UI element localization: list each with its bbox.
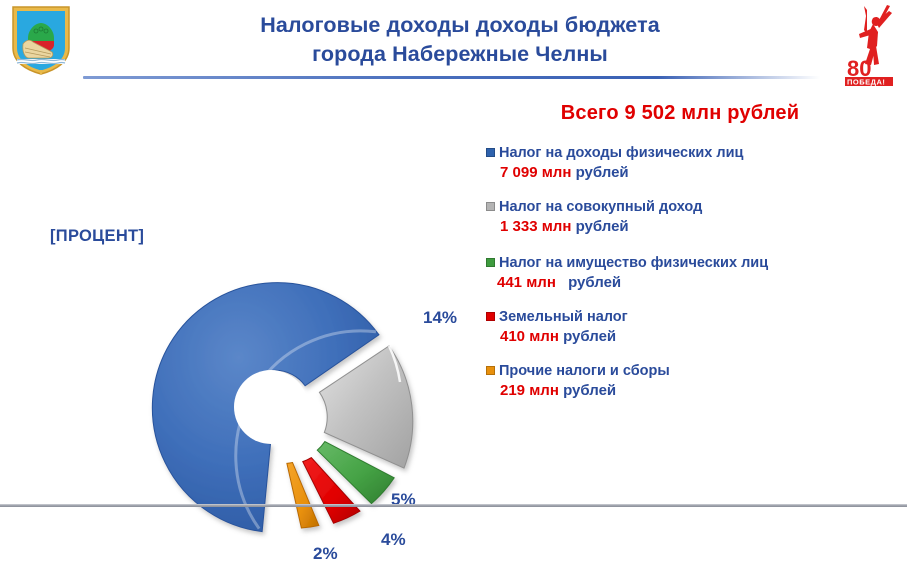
legend-swatch-blue-icon bbox=[486, 148, 495, 157]
donut-graphic bbox=[96, 232, 446, 577]
slide: Налоговые доходы доходы бюджета города Н… bbox=[0, 0, 907, 512]
legend-label: Налог на совокупный доход bbox=[499, 198, 906, 216]
legend-item-prochie: Прочие налоги и сборы 219 млн рублей bbox=[486, 362, 906, 402]
legend-amount-row: 1 333 млн рублей bbox=[500, 216, 906, 238]
legend-panel: Всего 9 502 млн рублей Налог на доходы ф… bbox=[470, 92, 907, 492]
legend-label: Прочие налоги и сборы bbox=[499, 362, 906, 380]
slide-header: Налоговые доходы доходы бюджета города Н… bbox=[0, 0, 907, 92]
pct-label-orange: 2% bbox=[313, 544, 338, 564]
title-line-1: Налоговые доходы доходы бюджета bbox=[150, 11, 770, 40]
legend-swatch-gray-icon bbox=[486, 202, 495, 211]
legend-label: Земельный налог bbox=[499, 308, 906, 326]
legend-amount-row: 410 млн рублей bbox=[500, 326, 906, 348]
pct-label-gray: 14% bbox=[423, 308, 457, 328]
city-coat-of-arms-icon bbox=[10, 4, 72, 76]
donut-chart: [ПРОЦЕНТ] bbox=[0, 92, 470, 492]
legend-amount-row: 441 млн рублей bbox=[497, 272, 906, 294]
page-title: Налоговые доходы доходы бюджета города Н… bbox=[150, 11, 770, 69]
legend-swatch-red-icon bbox=[486, 312, 495, 321]
legend-item-ndfl: Налог на доходы физических лиц 7 099 млн… bbox=[486, 144, 906, 184]
victory-word-text: ПОБЕДА! bbox=[847, 78, 885, 87]
footer-divider bbox=[0, 504, 907, 507]
legend-amount-row: 7 099 млн рублей bbox=[500, 162, 906, 184]
pct-label-red: 4% bbox=[381, 530, 406, 550]
header-divider bbox=[83, 76, 820, 79]
total-amount-label: Всего 9 502 млн рублей bbox=[470, 102, 890, 125]
legend-swatch-green-icon bbox=[486, 258, 495, 267]
legend-label: Налог на доходы физических лиц bbox=[499, 144, 906, 162]
legend-item-imuschestvo: Налог на имущество физических лиц 441 мл… bbox=[486, 254, 906, 294]
pct-label-green: 5% bbox=[391, 490, 416, 510]
legend-swatch-orange-icon bbox=[486, 366, 495, 375]
title-line-2: города Набережные Челны bbox=[150, 40, 770, 69]
legend-amount-row: 219 млн рублей bbox=[500, 380, 906, 402]
legend-item-zemelny: Земельный налог 410 млн рублей bbox=[486, 308, 906, 348]
victory-80-emblem-icon: 80 ПОБЕДА! bbox=[843, 4, 903, 88]
legend-item-sovokupny-dohod: Налог на совокупный доход 1 333 млн рубл… bbox=[486, 198, 906, 238]
legend-label: Налог на имущество физических лиц bbox=[499, 254, 906, 272]
legend-list: Налог на доходы физических лиц 7 099 млн… bbox=[486, 144, 906, 412]
